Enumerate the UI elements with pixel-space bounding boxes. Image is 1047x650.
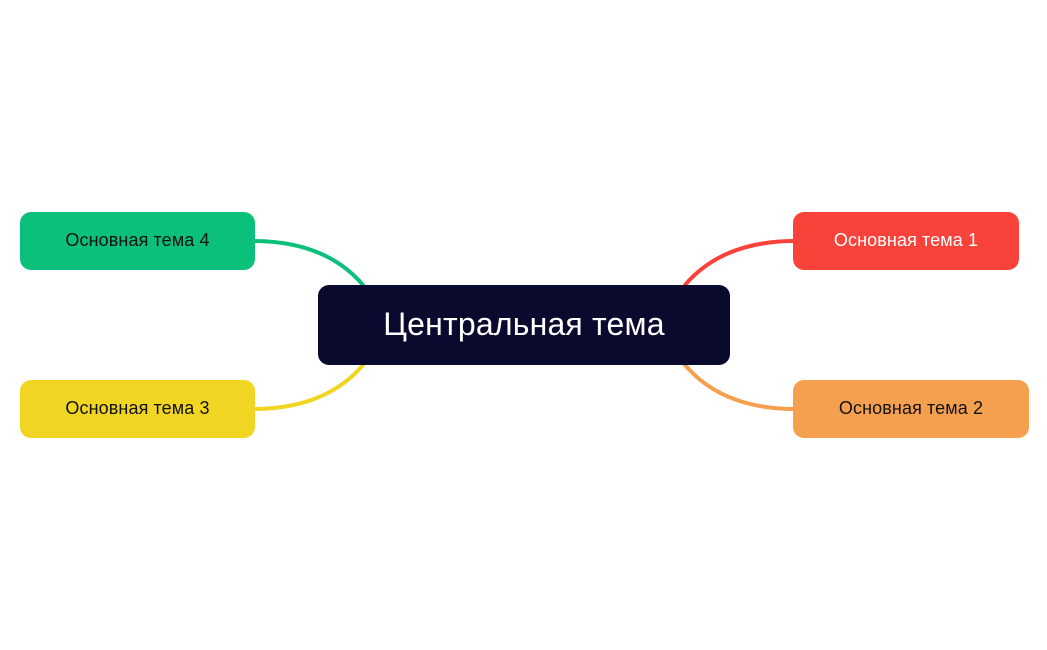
connector-central-to-branch-1 [685, 241, 795, 285]
mindmap-node-central[interactable]: Центральная тема [318, 285, 730, 365]
mindmap-node-central-label: Центральная тема [383, 307, 665, 342]
connector-central-to-branch-3 [253, 365, 363, 409]
mindmap-node-branch-3-label: Основная тема 3 [65, 399, 209, 419]
mindmap-node-branch-2[interactable]: Основная тема 2 [793, 380, 1029, 438]
mindmap-node-branch-1[interactable]: Основная тема 1 [793, 212, 1019, 270]
mindmap-node-branch-4-label: Основная тема 4 [65, 231, 209, 251]
mindmap-node-branch-3[interactable]: Основная тема 3 [20, 380, 255, 438]
connector-central-to-branch-4 [253, 241, 363, 285]
mindmap-node-branch-2-label: Основная тема 2 [839, 399, 983, 419]
mindmap-canvas: Основная тема 4 Основная тема 3 Централь… [0, 0, 1047, 650]
mindmap-node-branch-4[interactable]: Основная тема 4 [20, 212, 255, 270]
connector-central-to-branch-2 [685, 365, 795, 409]
mindmap-node-branch-1-label: Основная тема 1 [834, 231, 978, 251]
